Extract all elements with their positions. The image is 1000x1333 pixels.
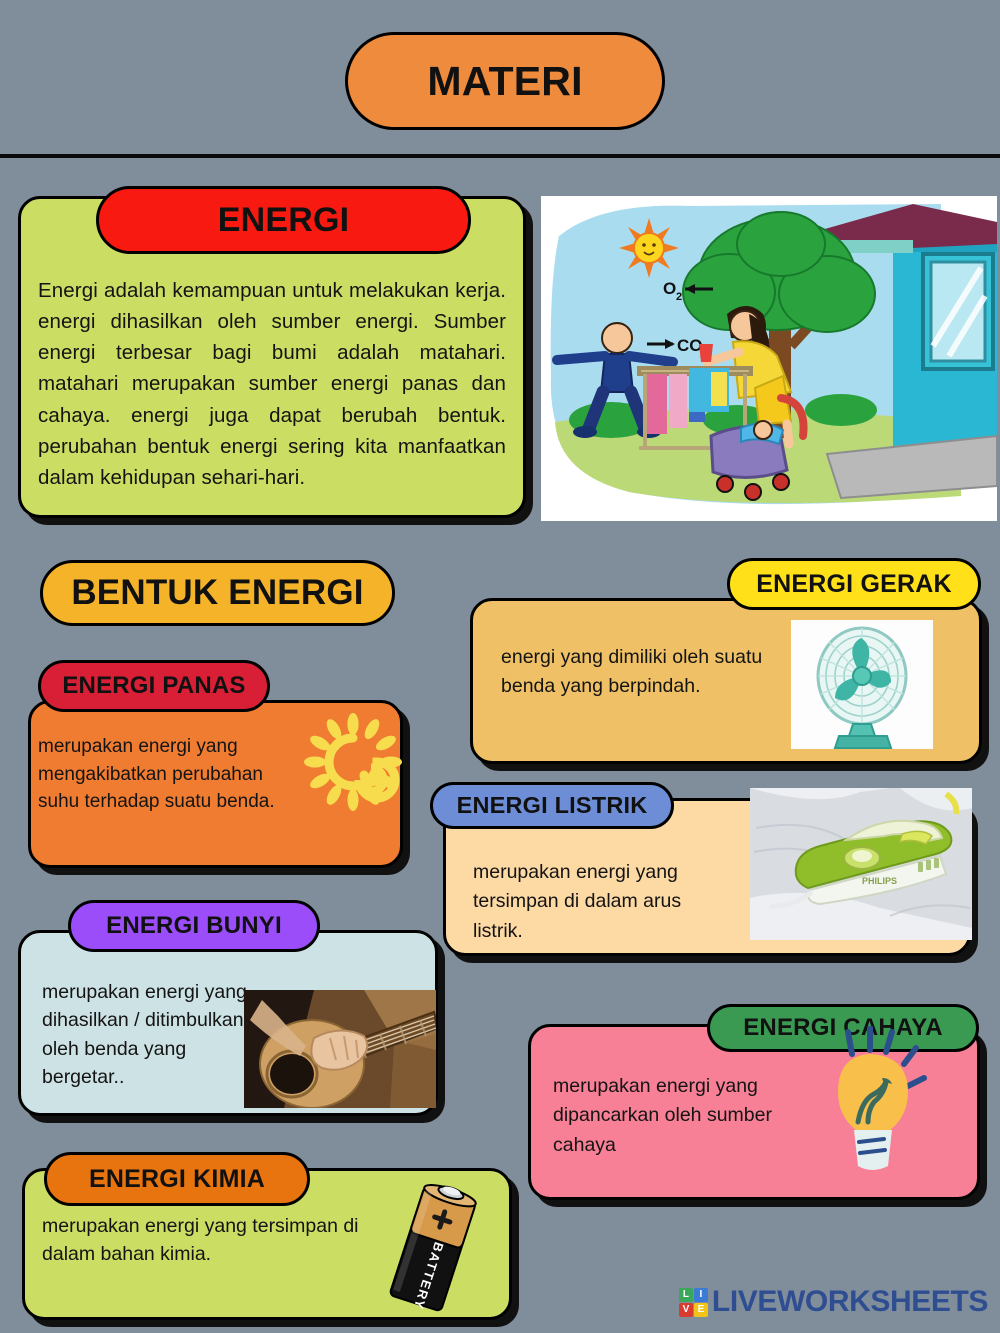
energi-panas-label-pill: ENERGI PANAS [38, 660, 270, 712]
light-bulb-icon [812, 1026, 930, 1176]
page-title: MATERI [427, 58, 582, 105]
svg-text:PHILIPS: PHILIPS [862, 876, 897, 886]
energi-bunyi-label: ENERGI BUNYI [106, 912, 282, 940]
lw-tile-v: V [679, 1303, 693, 1317]
energi-listrik-label-pill: ENERGI LISTRIK [430, 782, 674, 829]
energi-label-pill: ENERGI [96, 186, 471, 254]
clothes-iron-photo: PHILIPS [750, 788, 972, 940]
energi-bunyi-description: merupakan energi yang dihasilkan / ditim… [42, 978, 247, 1091]
svg-text:2: 2 [676, 291, 682, 303]
energi-listrik-label: ENERGI LISTRIK [457, 792, 648, 819]
energi-panas-label: ENERGI PANAS [62, 672, 245, 700]
materi-title-pill: MATERI [345, 32, 665, 130]
lw-tile-e: E [694, 1303, 708, 1317]
liveworksheets-logo: L I V E LIVEWORKSHEETS [679, 1285, 988, 1319]
acoustic-guitar-photo [244, 990, 436, 1108]
energi-description: Energi adalah kemampuan untuk melakukan … [38, 275, 506, 493]
worksheet-page: MATERI ENERGI Energi adalah kemampuan un… [0, 0, 1000, 1333]
header-divider [0, 154, 1000, 158]
liveworksheets-tiles: L I V E [679, 1288, 708, 1317]
liveworksheets-wordmark: LIVEWORKSHEETS [712, 1285, 988, 1319]
energi-kimia-label: ENERGI KIMIA [89, 1165, 265, 1194]
energi-bunyi-label-pill: ENERGI BUNYI [68, 900, 320, 952]
lw-tile-i: I [694, 1288, 708, 1302]
energi-cahaya-description: merupakan energi yang dipancarkan oleh s… [553, 1072, 793, 1160]
energi-gerak-label-pill: ENERGI GERAK [727, 558, 981, 610]
energi-illustration: O 2 CO 2 [541, 196, 997, 521]
energi-kimia-label-pill: ENERGI KIMIA [44, 1152, 310, 1206]
battery-icon: BATTERY [372, 1176, 494, 1320]
energi-panas-description: merupakan energi yang mengakibatkan peru… [38, 733, 308, 816]
energi-label: ENERGI [218, 201, 350, 240]
svg-text:O: O [663, 279, 676, 298]
bentuk-energi-label: BENTUK ENERGI [71, 573, 363, 613]
lw-tile-l: L [679, 1288, 693, 1302]
sun-spiral-icon [303, 712, 403, 812]
energi-kimia-description: merupakan energi yang tersimpan di dalam… [42, 1212, 382, 1269]
energi-gerak-label: ENERGI GERAK [756, 570, 951, 599]
energi-gerak-description: energi yang dimiliki oleh suatu benda ya… [501, 643, 781, 702]
energi-listrik-description: merupakan energi yang tersimpan di dalam… [473, 858, 733, 946]
electric-fan-photo [791, 620, 933, 749]
bentuk-energi-heading: BENTUK ENERGI [40, 560, 395, 626]
svg-text:CO: CO [677, 336, 703, 355]
